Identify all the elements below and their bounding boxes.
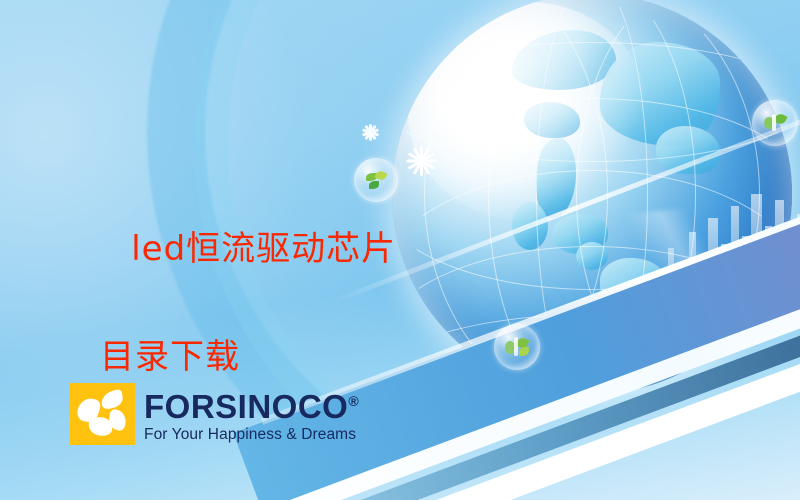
- world-globe-icon: [392, 0, 792, 394]
- poster-canvas: led恒流驱动芯片 目录下载 FORSINOCO® For Your Happi…: [0, 0, 800, 500]
- daisy-starburst-icon: [362, 124, 379, 141]
- registered-mark: ®: [348, 393, 359, 409]
- brand-wordmark: FORSINOCO®: [144, 384, 359, 424]
- city-skyline-icon: [654, 188, 800, 318]
- headline-line-1: led恒流驱动芯片: [131, 229, 396, 269]
- four-petal-pinwheel-icon: [70, 383, 135, 445]
- headline-line-2: 目录下载: [84, 330, 396, 384]
- brand-logo: FORSINOCO® For Your Happiness & Dreams: [70, 383, 359, 445]
- diagonal-ribbon-band: [329, 78, 800, 305]
- brand-wordmark-text: FORSINOCO: [144, 388, 348, 425]
- bubble-with-pinwheel-icon: [494, 324, 540, 370]
- globe-rim: [392, 0, 792, 394]
- brand-tagline: For Your Happiness & Dreams: [144, 425, 359, 444]
- brand-text: FORSINOCO® For Your Happiness & Dreams: [144, 383, 359, 444]
- daisy-starburst-icon: [406, 146, 436, 176]
- globe-sphere: [392, 0, 792, 394]
- globe-highlight: [408, 2, 648, 222]
- bubble-with-pinwheel-icon: [752, 100, 798, 146]
